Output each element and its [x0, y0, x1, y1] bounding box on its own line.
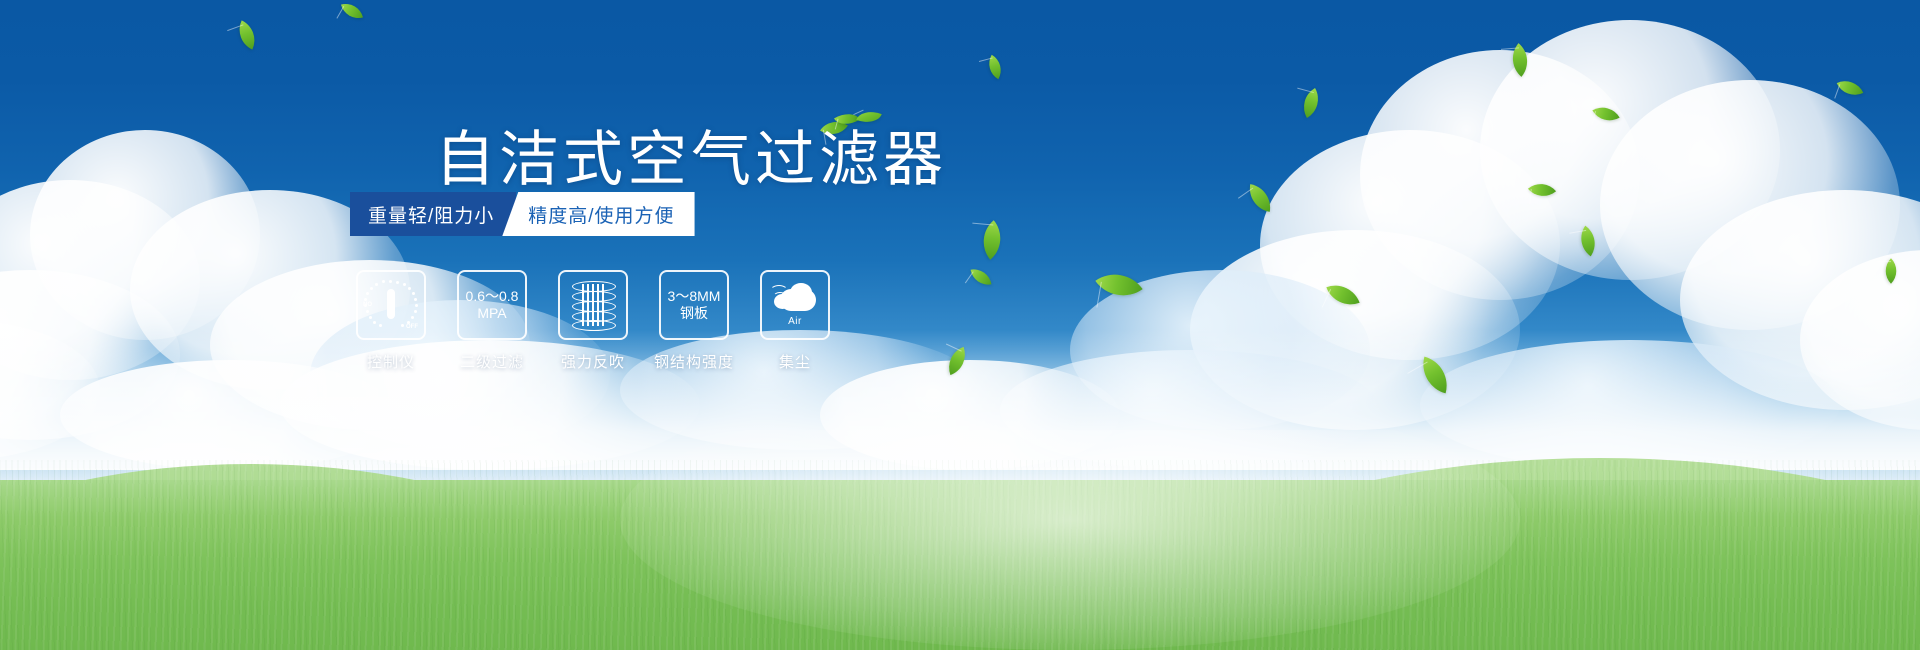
- feature-label: 二级过滤: [460, 351, 524, 372]
- air-cloud-icon: Air: [770, 283, 820, 327]
- feature-label: 控制仪: [367, 351, 415, 372]
- tab-lightweight-lowresistance[interactable]: 重量轻/阻力小: [350, 192, 516, 236]
- banner-content: 自洁式空气过滤器 重量轻/阻力小 精度高/使用方便: [0, 0, 1920, 650]
- tab-label: 重量轻/阻力小: [368, 201, 494, 228]
- filter-stack-icon: [570, 280, 616, 330]
- feature-label: 强力反吹: [561, 351, 625, 372]
- feature-item-strong-backblow[interactable]: 强力反吹: [558, 270, 628, 372]
- page-title: 自洁式空气过滤器: [435, 130, 947, 190]
- feature-icon-box: Air: [760, 270, 830, 340]
- feature-icon-box: NO OFF: [356, 270, 426, 340]
- feature-label: 钢结构强度: [654, 351, 734, 372]
- tab-group: 重量轻/阻力小 精度高/使用方便: [350, 192, 695, 236]
- feature-item-dust-collection[interactable]: Air 集尘: [760, 270, 830, 372]
- feature-icon-box: [558, 270, 628, 340]
- feature-item-controller[interactable]: NO OFF 控制仪: [356, 270, 426, 372]
- feature-icon-box: 3～8MM 钢板: [659, 270, 729, 340]
- tab-highprecision-easyuse[interactable]: 精度高/使用方便: [502, 192, 694, 236]
- feature-item-secondary-filtration[interactable]: 0.6～0.8 MPA 二级过滤: [457, 270, 527, 372]
- dial-label-no: NO: [363, 302, 372, 308]
- air-caption: Air: [770, 316, 820, 327]
- dial-gauge-icon: NO OFF: [364, 278, 418, 332]
- product-banner: 自洁式空气过滤器 重量轻/阻力小 精度高/使用方便: [0, 0, 1920, 650]
- feature-item-steel-structure-strength[interactable]: 3～8MM 钢板 钢结构强度: [659, 270, 729, 372]
- feature-icon-box: 0.6～0.8 MPA: [457, 270, 527, 340]
- dial-label-off: OFF: [406, 324, 418, 330]
- feature-list: NO OFF 控制仪 0.6～0.8 MPA 二级过滤: [356, 270, 830, 372]
- tab-label: 精度高/使用方便: [528, 201, 674, 228]
- steel-plate-value-icon: 3～8MM 钢板: [668, 288, 721, 321]
- feature-label: 集尘: [779, 351, 811, 372]
- dial-needle: [387, 289, 395, 319]
- pressure-value-icon: 0.6～0.8 MPA: [466, 288, 519, 321]
